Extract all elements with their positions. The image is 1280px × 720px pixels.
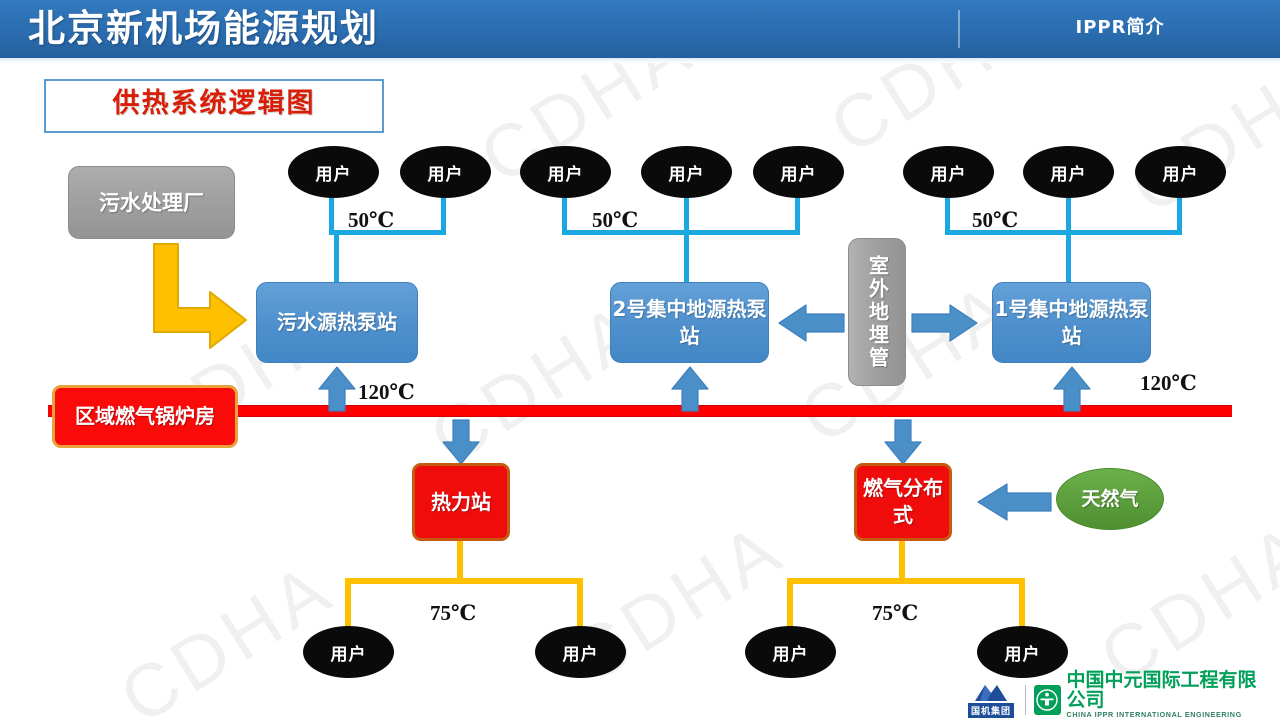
user-label: 用户 (563, 640, 599, 665)
user-node: 用户 (1023, 146, 1114, 198)
ippr-emblem-glyph (1036, 689, 1058, 711)
footer-logos: 国机集团 中国中元国际工程有限公司 CHINA IPPR INTERNATION… (965, 682, 1270, 718)
watermark-text: CDHA (105, 545, 348, 720)
header-underline (0, 58, 1280, 63)
user-label: 用户 (548, 160, 584, 185)
logo-guoji-label: 国机集团 (968, 703, 1014, 718)
node-sewage-heat-pump-station: 污水源热泵站 (256, 282, 418, 363)
node-heat-station-label: 热力站 (431, 489, 491, 516)
user-label: 用户 (781, 160, 817, 185)
user-label: 用户 (669, 160, 705, 185)
logo-ippr-group: 中国中元国际工程有限公司 CHINA IPPR INTERNATIONAL EN… (1034, 670, 1270, 720)
user-label: 用户 (931, 160, 967, 185)
node-buried-pipe-label: 室外地埋管 (866, 255, 889, 370)
pipe-cyan-drop-u4 (684, 196, 689, 234)
pipe-yellow-riser-right (899, 538, 905, 582)
user-label: 用户 (1163, 160, 1199, 185)
node-district-gas-boiler: 区域燃气锅炉房 (52, 385, 238, 448)
temp-label-50-mid: 50℃ (592, 207, 638, 233)
node-natural-gas: 天然气 (1056, 468, 1164, 530)
slide-header: 北京新机场能源规划 IPPR简介 (0, 0, 1280, 58)
pipe-yellow-bus-left (345, 578, 583, 584)
pipe-cyan-riser-2 (684, 230, 689, 282)
user-label: 用户 (773, 640, 809, 665)
node-sewage-heat-pump-station-label: 污水源热泵站 (277, 309, 397, 336)
page-title: 北京新机场能源规划 (28, 4, 379, 54)
ippr-emblem-icon (1034, 685, 1061, 715)
logo-company-en: CHINA IPPR INTERNATIONAL ENGINEERING CO.… (1067, 710, 1270, 720)
user-node: 用户 (400, 146, 491, 198)
pipe-cyan-drop-u6 (945, 196, 950, 234)
user-node: 用户 (288, 146, 379, 198)
logo-company-cn: 中国中元国际工程有限公司 (1067, 670, 1270, 710)
section-title-text: 供热系统逻辑图 (46, 81, 382, 127)
user-node: 用户 (520, 146, 611, 198)
node-district-gas-boiler-label: 区域燃气锅炉房 (75, 403, 215, 430)
user-label: 用户 (331, 640, 367, 665)
node-sewage-plant-label: 污水处理厂 (99, 189, 204, 217)
logo-ippr-text-group: 中国中元国际工程有限公司 CHINA IPPR INTERNATIONAL EN… (1067, 670, 1270, 720)
pipe-cyan-riser-3 (1066, 230, 1071, 282)
arrow-blue-down-heat-station (440, 418, 482, 466)
pipe-cyan-drop-u5 (795, 196, 800, 234)
arrow-blue-left-to-station2 (776, 303, 846, 343)
pipe-cyan-drop-u1 (329, 196, 334, 234)
node-pump-station-1: 1号集中地源热泵站 (992, 282, 1151, 363)
arrow-blue-down-gas-distributed (882, 418, 924, 466)
temp-label-50-left: 50℃ (348, 207, 394, 233)
user-node: 用户 (641, 146, 732, 198)
user-label: 用户 (1005, 640, 1041, 665)
node-pump-station-2: 2号集中地源热泵站 (610, 282, 769, 363)
node-pump-station-1-label: 1号集中地源热泵站 (993, 296, 1150, 350)
user-node: 用户 (745, 626, 836, 678)
user-node: 用户 (535, 626, 626, 678)
node-pump-station-2-label: 2号集中地源热泵站 (611, 296, 768, 350)
logo-guoji-group: 国机集团 (965, 682, 1017, 718)
node-gas-distributed: 燃气分布式 (854, 463, 952, 541)
pipe-cyan-drop-u3 (562, 196, 567, 234)
arrow-yellow-elbow (140, 240, 255, 350)
section-title-box: 供热系统逻辑图 (44, 79, 384, 133)
temp-label-50-right: 50℃ (972, 207, 1018, 233)
temp-label-120-left: 120℃ (358, 379, 415, 405)
temp-label-75-left: 75℃ (430, 600, 476, 626)
arrow-blue-up-station2 (669, 365, 711, 413)
pipe-yellow-riser-left (457, 538, 463, 582)
arrow-blue-up-station1 (1051, 365, 1093, 413)
user-node: 用户 (303, 626, 394, 678)
arrow-blue-up-sewage-station (316, 365, 358, 413)
header-divider (958, 10, 960, 48)
pipe-yellow-bus-right (787, 578, 1025, 584)
user-label: 用户 (1051, 160, 1087, 185)
user-label: 用户 (428, 160, 464, 185)
pipe-cyan-drop-u7 (1066, 196, 1071, 234)
temp-label-75-right: 75℃ (872, 600, 918, 626)
arrow-blue-right-to-station1 (910, 303, 980, 343)
user-label: 用户 (316, 160, 352, 185)
node-heat-station: 热力站 (412, 463, 510, 541)
watermark-text: CDHA (1115, 35, 1280, 231)
user-node: 用户 (1135, 146, 1226, 198)
pipe-cyan-drop-u8 (1177, 196, 1182, 234)
logo-divider (1025, 685, 1026, 715)
mountain-icon (973, 682, 1009, 702)
user-node: 用户 (903, 146, 994, 198)
user-node: 用户 (753, 146, 844, 198)
arrow-blue-left-natural-gas (975, 482, 1053, 522)
slide-canvas: CDHA CDHA CDHA CDHA CDHA CDHA CDHA CDHA … (0, 0, 1280, 720)
node-buried-pipe: 室外地埋管 (848, 238, 906, 386)
node-natural-gas-label: 天然气 (1081, 488, 1138, 511)
header-right-label: IPPR简介 (1000, 13, 1240, 39)
pipe-cyan-riser-1 (334, 230, 339, 282)
node-gas-distributed-label: 燃气分布式 (857, 475, 949, 529)
temp-label-120-right: 120℃ (1140, 370, 1197, 396)
pipe-cyan-drop-u2 (441, 196, 446, 234)
node-sewage-plant: 污水处理厂 (68, 166, 235, 239)
